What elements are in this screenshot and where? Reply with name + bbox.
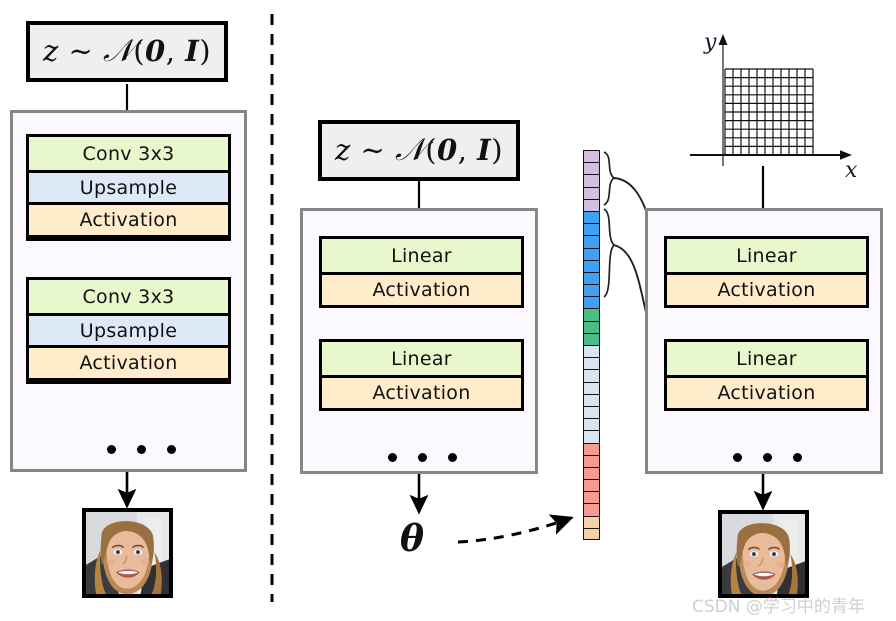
- strip-cell-salmon-3: [583, 479, 600, 491]
- implicit-mlp-panel-ellipsis: [717, 451, 817, 463]
- hypernetwork-panel-ellipsis: [372, 451, 472, 463]
- strip-cell-purple-3: [583, 187, 600, 199]
- output-face-right: [718, 510, 809, 598]
- strip-cell-blue-2: [583, 235, 600, 247]
- mlp-block-1-right-row-linear: Linear: [667, 239, 866, 272]
- mlp-block-1-mid-row-activation: Activation: [322, 272, 521, 305]
- output-face-left: [82, 508, 173, 598]
- latent-box-left: z ∼ 𝒩(0, I): [26, 21, 228, 82]
- strip-cell-blue-4: [583, 260, 600, 272]
- y-axis-label: y: [704, 30, 716, 55]
- y-axis-arrowhead: [719, 34, 728, 45]
- latent-box-middle: z ∼ 𝒩(0, I): [318, 120, 520, 181]
- strip-cell-green-0: [583, 308, 600, 320]
- strip-cell-peach-0: [583, 516, 600, 528]
- strip-cell-light-blue-5: [583, 406, 600, 418]
- theta-symbol: θ: [400, 518, 424, 560]
- latent-formula-left: z ∼ 𝒩(0, I): [43, 33, 211, 70]
- implicit-mlp-panel: Linear Activation Linear Activation: [645, 208, 883, 474]
- face-image-graphic-right: [722, 514, 805, 596]
- conv-panel-ellipsis: [91, 443, 191, 455]
- strip-cell-blue-7: [583, 296, 600, 308]
- mlp-block-1-right: Linear Activation: [664, 236, 869, 308]
- strip-cell-blue-6: [583, 284, 600, 296]
- arrow-theta-to-strip: [458, 518, 571, 542]
- strip-cell-light-blue-3: [583, 382, 600, 394]
- brace-upper: [604, 152, 614, 205]
- latent-formula-middle: z ∼ 𝒩(0, I): [335, 132, 503, 169]
- mlp-block-2-mid: Linear Activation: [319, 339, 524, 411]
- brace-lower: [604, 209, 614, 297]
- grid-lines: [725, 69, 813, 155]
- strip-cell-blue-5: [583, 272, 600, 284]
- conv-block-1-row-activation: Activation: [29, 202, 228, 235]
- mlp-block-2-mid-row-activation: Activation: [322, 375, 521, 408]
- conv-block-2: Conv 3x3 Upsample Activation: [26, 277, 231, 384]
- hypernetwork-panel: Linear Activation Linear Activation: [300, 208, 538, 474]
- strip-cell-peach-1: [583, 528, 600, 540]
- strip-cell-purple-1: [583, 162, 600, 174]
- strip-cell-light-blue-2: [583, 369, 600, 381]
- strip-cell-blue-3: [583, 248, 600, 260]
- strip-cell-green-2: [583, 333, 600, 345]
- conv-block-2-row-upsample: Upsample: [29, 313, 228, 345]
- x-axis-label: x: [845, 158, 857, 183]
- strip-cell-purple-0: [583, 150, 600, 162]
- strip-cell-salmon-5: [583, 503, 600, 515]
- mlp-block-2-right-row-activation: Activation: [667, 375, 866, 408]
- mlp-block-2-mid-row-linear: Linear: [322, 342, 521, 375]
- strip-cell-salmon-0: [583, 443, 600, 455]
- watermark: CSDN @学习中的青年: [692, 592, 865, 617]
- strip-cell-purple-4: [583, 199, 600, 211]
- mlp-block-2-right: Linear Activation: [664, 339, 869, 411]
- conv-block-1: Conv 3x3 Upsample Activation: [26, 134, 231, 241]
- strip-cell-light-blue-0: [583, 345, 600, 357]
- mlp-block-2-right-row-linear: Linear: [667, 342, 866, 375]
- strip-cell-salmon-1: [583, 455, 600, 467]
- conv-block-1-row-upsample: Upsample: [29, 170, 228, 202]
- strip-cell-green-1: [583, 321, 600, 333]
- strip-cell-salmon-4: [583, 491, 600, 503]
- parameter-vector-strip: [583, 150, 600, 540]
- strip-cell-light-blue-6: [583, 418, 600, 430]
- diagram-canvas: z ∼ 𝒩(0, I) Conv 3x3 Upsample Activation…: [0, 0, 896, 621]
- strip-cell-light-blue-4: [583, 394, 600, 406]
- strip-cell-light-blue-1: [583, 357, 600, 369]
- mlp-block-1-right-row-activation: Activation: [667, 272, 866, 305]
- strip-cell-purple-2: [583, 174, 600, 186]
- strip-cell-blue-0: [583, 211, 600, 223]
- conv-block-2-row-conv: Conv 3x3: [29, 280, 228, 313]
- face-image-graphic: [86, 512, 169, 594]
- strip-cell-light-blue-7: [583, 430, 600, 442]
- mlp-block-1-mid: Linear Activation: [319, 236, 524, 308]
- conv-block-1-row-conv: Conv 3x3: [29, 137, 228, 170]
- mlp-block-1-mid-row-linear: Linear: [322, 239, 521, 272]
- strip-cell-salmon-2: [583, 467, 600, 479]
- conv-block-2-row-activation: Activation: [29, 345, 228, 378]
- strip-cell-blue-1: [583, 223, 600, 235]
- conv-generator-panel: Conv 3x3 Upsample Activation Conv 3x3 Up…: [10, 110, 247, 472]
